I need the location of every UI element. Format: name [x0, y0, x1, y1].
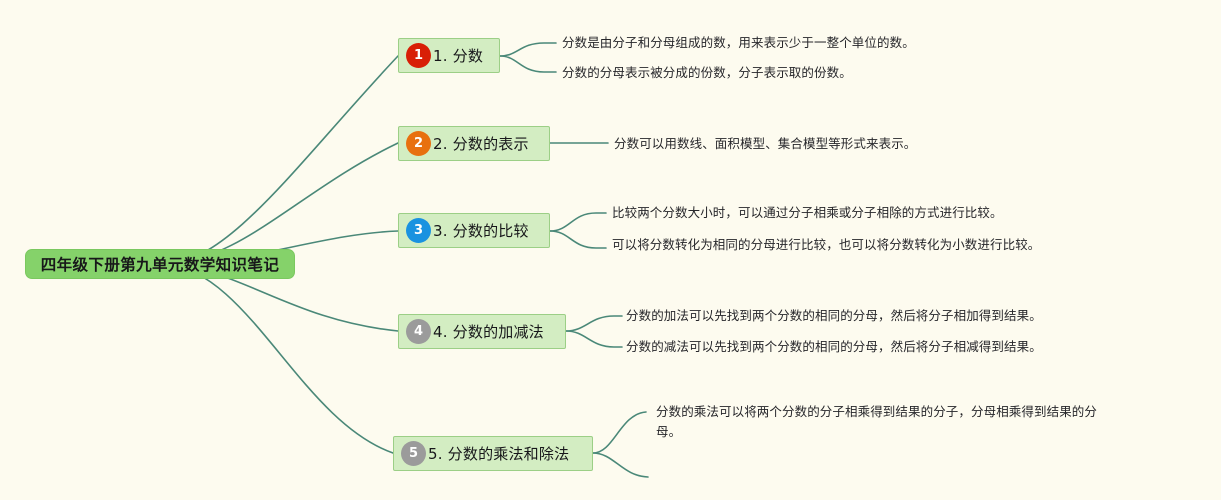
- topic-node-1[interactable]: 1 1. 分数: [398, 38, 500, 73]
- topic-badge-2-icon: 2: [406, 131, 431, 156]
- topic-badge-3-icon: 3: [406, 218, 431, 243]
- mindmap-canvas: 四年级下册第九单元数学知识笔记 1 1. 分数 分数是由分子和分母组成的数，用来…: [0, 0, 1221, 500]
- topic-node-3[interactable]: 3 3. 分数的比较: [398, 213, 550, 248]
- topic-label-3: 3. 分数的比较: [433, 220, 529, 241]
- topic-badge-1-icon: 1: [406, 43, 431, 68]
- root-label: 四年级下册第九单元数学知识笔记: [41, 253, 280, 275]
- topic-node-2[interactable]: 2 2. 分数的表示: [398, 126, 550, 161]
- topic-node-4[interactable]: 4 4. 分数的加减法: [398, 314, 566, 349]
- topic-node-5[interactable]: 5 5. 分数的乘法和除法: [393, 436, 593, 471]
- leaf-text-4-1: 分数的加法可以先找到两个分数的相同的分母，然后将分子相加得到结果。: [626, 306, 1042, 326]
- root-node[interactable]: 四年级下册第九单元数学知识笔记: [25, 249, 295, 279]
- leaf-text-3-2: 可以将分数转化为相同的分母进行比较，也可以将分数转化为小数进行比较。: [612, 235, 1040, 255]
- leaf-text-2-1: 分数可以用数线、面积模型、集合模型等形式来表示。: [614, 134, 916, 154]
- topic-badge-5-icon: 5: [401, 441, 426, 466]
- topic-label-4: 4. 分数的加减法: [433, 321, 544, 342]
- leaf-text-5-1: 分数的乘法可以将两个分数的分子相乘得到结果的分子，分母相乘得到结果的分 母。: [656, 402, 1156, 442]
- topic-badge-4-icon: 4: [406, 319, 431, 344]
- leaf-text-3-1: 比较两个分数大小时，可以通过分子相乘或分子相除的方式进行比较。: [612, 203, 1003, 223]
- leaf-text-4-2: 分数的减法可以先找到两个分数的相同的分母，然后将分子相减得到结果。: [626, 337, 1042, 357]
- leaf-text-1-2: 分数的分母表示被分成的份数，分子表示取的份数。: [562, 63, 852, 83]
- topic-label-1: 1. 分数: [433, 45, 483, 66]
- topic-label-2: 2. 分数的表示: [433, 133, 529, 154]
- topic-label-5: 5. 分数的乘法和除法: [428, 443, 569, 464]
- leaf-text-1-1: 分数是由分子和分母组成的数，用来表示少于一整个单位的数。: [562, 33, 915, 53]
